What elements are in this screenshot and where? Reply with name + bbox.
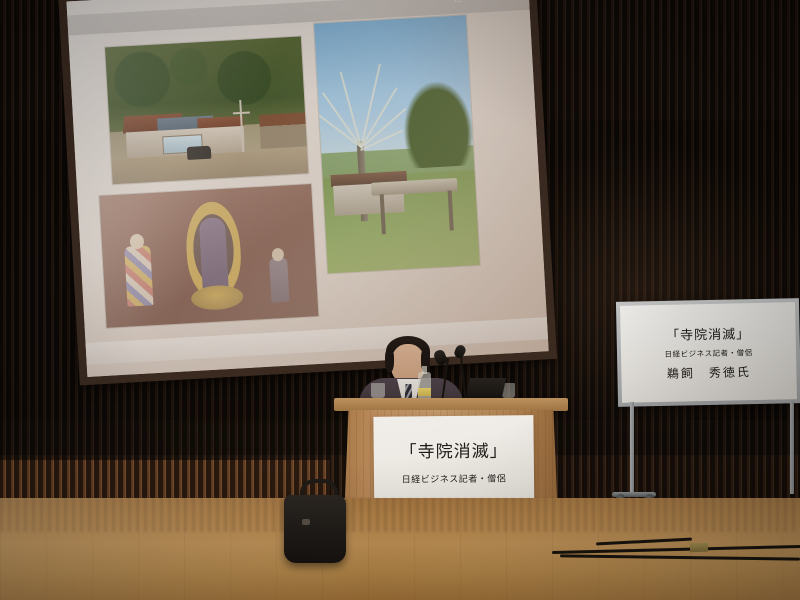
- screen-surface: 11: [66, 0, 548, 377]
- device-on-table: [466, 378, 506, 398]
- projection-screen: 11: [58, 0, 558, 393]
- bag-clip-icon: [302, 519, 310, 525]
- photo-buddha-statues: [99, 184, 318, 328]
- photo-tree-gate: [314, 15, 480, 273]
- slide: 11: [66, 0, 548, 377]
- slat-wall-base-lit: [0, 460, 330, 500]
- drinking-glass: [371, 383, 385, 398]
- whiteboard-leg: [630, 402, 634, 496]
- forest: [401, 80, 474, 169]
- podium-title: 「寺院消滅」: [400, 436, 508, 462]
- parked-car: [187, 146, 212, 160]
- lecture-hall-photo: 11: [0, 0, 800, 600]
- black-bag: [284, 495, 346, 563]
- whiteboard-title: 「寺院消滅」: [666, 323, 750, 344]
- whiteboard-leg: [790, 402, 794, 494]
- cable-tape: [690, 543, 708, 553]
- whiteboard-name: 鵜飼 秀徳氏: [667, 363, 751, 382]
- whiteboard-stand: 「寺院消滅」 日経ビジネス記者・僧侶 鵜飼 秀徳氏: [616, 298, 800, 407]
- building-right: [259, 112, 307, 149]
- whiteboard-sign: 「寺院消滅」 日経ビジネス記者・僧侶 鵜飼 秀徳氏: [620, 302, 797, 403]
- slide-number: 11: [453, 0, 463, 4]
- podium-top: [334, 398, 568, 411]
- projector-washout: [99, 184, 318, 328]
- bottle-label: [418, 388, 431, 396]
- whiteboard-subtitle: 日経ビジネス記者・僧侶: [664, 347, 752, 360]
- photo-rural-temple: [105, 37, 308, 185]
- hair-side: [385, 348, 394, 372]
- podium-subtitle: 日経ビジネス記者・僧侶: [402, 471, 507, 485]
